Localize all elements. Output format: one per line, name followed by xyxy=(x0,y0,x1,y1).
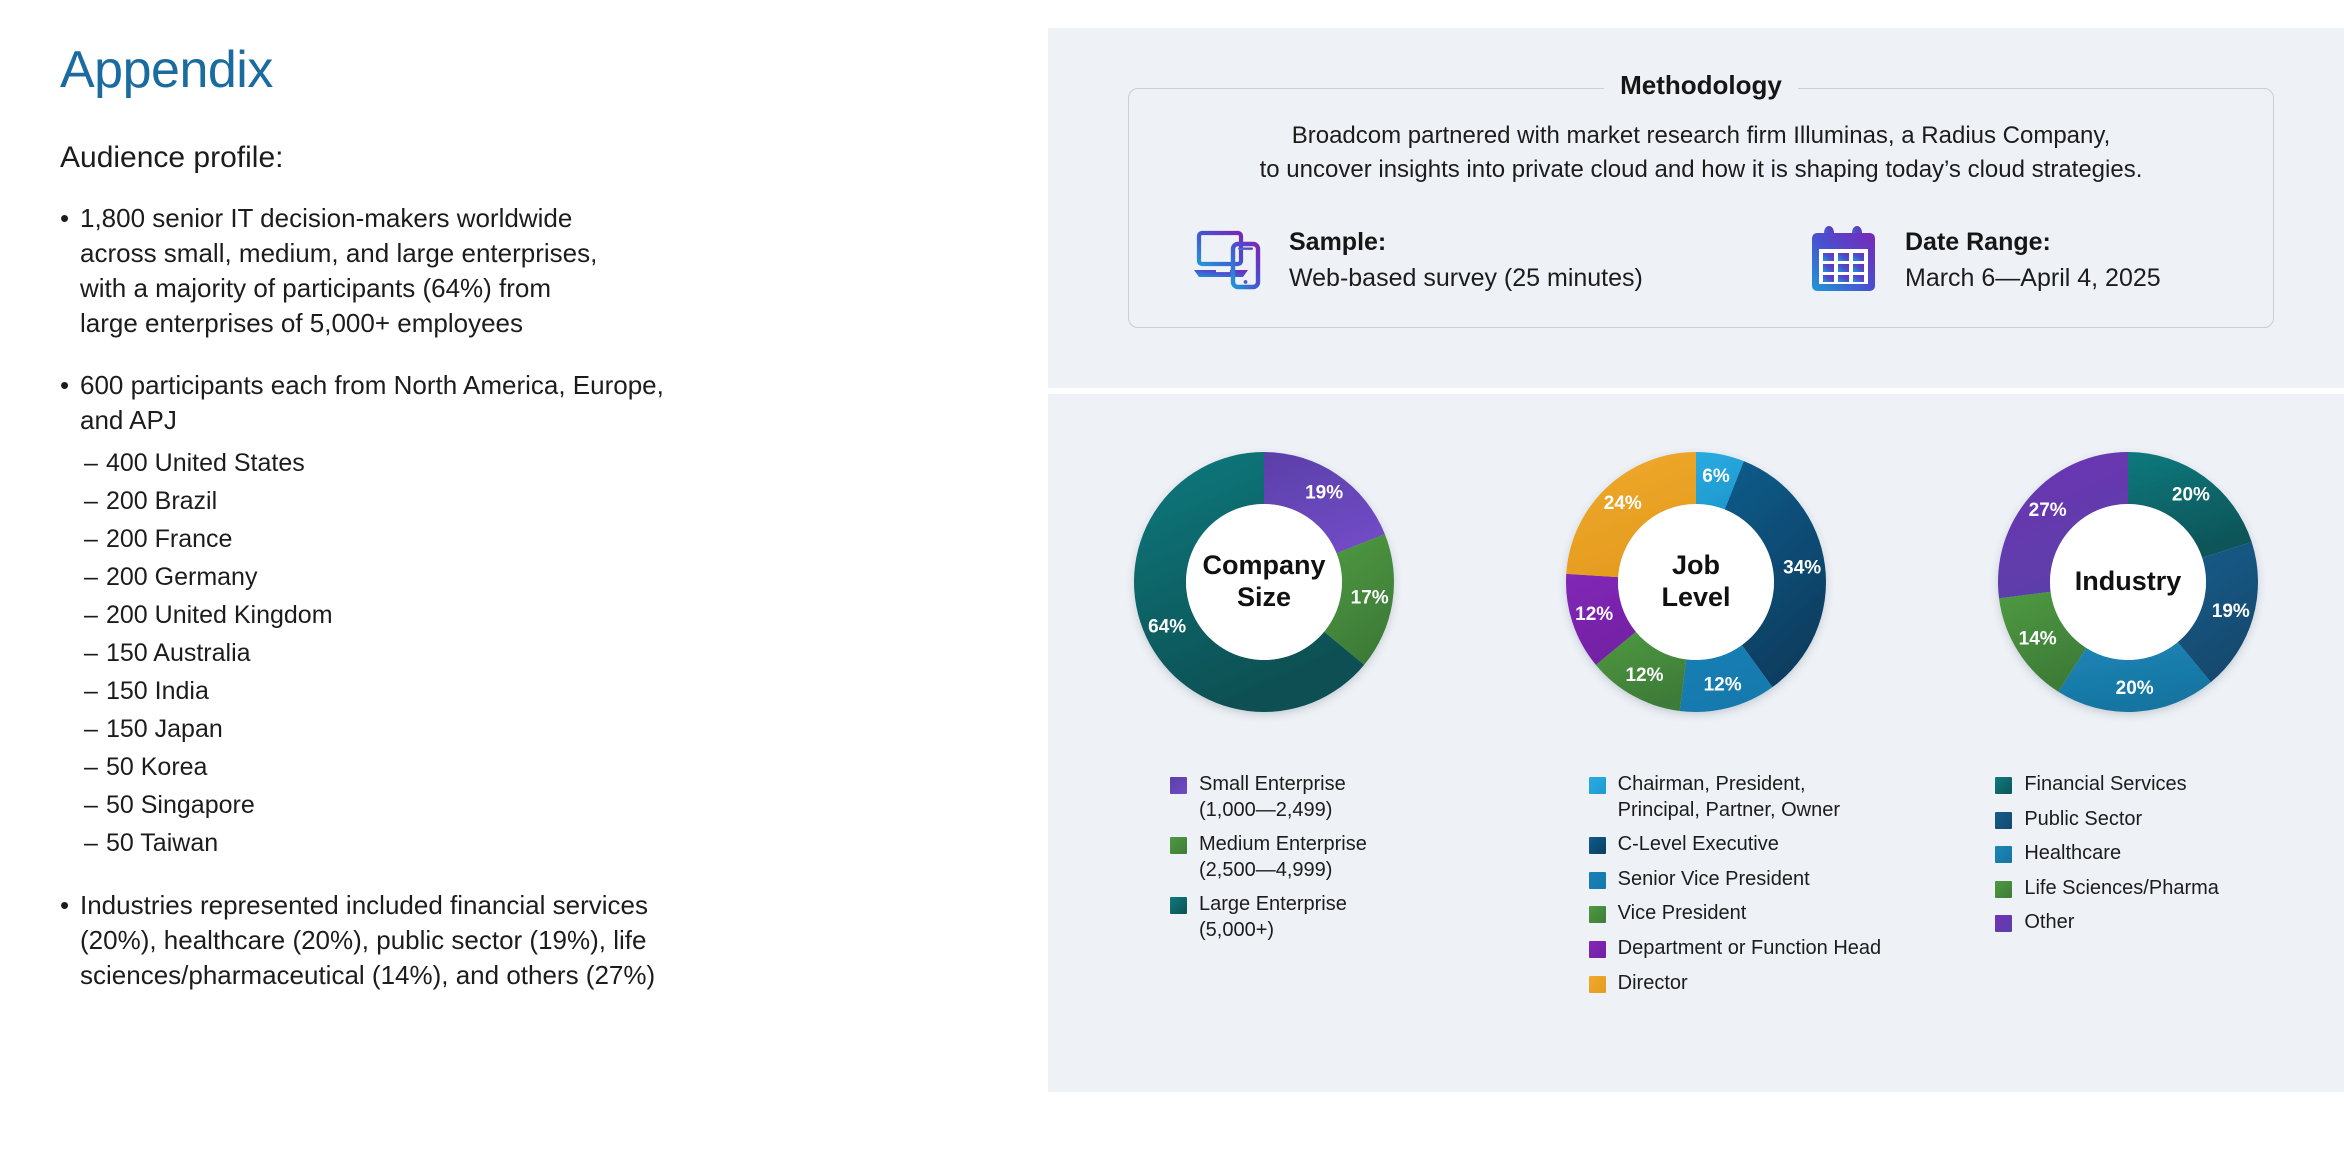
dash-icon: – xyxy=(84,601,106,629)
legend-item[interactable]: Healthcare xyxy=(1995,841,2344,867)
donut-slice-label: 27% xyxy=(2029,500,2067,521)
bullet-block: •600 participants each from North Americ… xyxy=(60,368,1008,862)
legend-item[interactable]: Financial Services xyxy=(1995,772,2344,798)
bullet-item: •Industries represented included financi… xyxy=(60,888,1008,993)
legend-item[interactable]: Vice President xyxy=(1589,901,1938,927)
country-list-item: –200 France xyxy=(84,520,1008,558)
methodology-item-label: Date Range: xyxy=(1905,228,2161,257)
dash-icon: – xyxy=(84,639,106,667)
legend-label: Public Sector xyxy=(2024,807,2142,833)
legend-color-swatch xyxy=(1589,906,1606,923)
country-list-item-label: 150 Japan xyxy=(106,715,1008,743)
dash-icon: – xyxy=(84,487,106,515)
country-list-item: –200 United Kingdom xyxy=(84,596,1008,634)
methodology-panel: Methodology Broadcom partnered with mark… xyxy=(1048,28,2344,388)
bullet-item: •600 participants each from North Americ… xyxy=(60,368,1008,438)
legend-color-swatch xyxy=(1170,837,1187,854)
country-list-item: –400 United States xyxy=(84,444,1008,482)
page-title: Appendix xyxy=(60,42,1008,99)
legend-item[interactable]: Senior Vice President xyxy=(1589,867,1938,893)
country-list-item-label: 50 Singapore xyxy=(106,791,1008,819)
country-list-item-label: 200 Germany xyxy=(106,563,1008,591)
methodology-item-text: Date Range:March 6—April 4, 2025 xyxy=(1905,228,2161,293)
country-list-item: –50 Singapore xyxy=(84,786,1008,824)
legend-label: Healthcare xyxy=(2024,841,2121,867)
chart-legend: Chairman, President, Principal, Partner,… xyxy=(1519,772,1938,1005)
bullet-item: •1,800 senior IT decision-makers worldwi… xyxy=(60,201,1008,341)
legend-item[interactable]: Director xyxy=(1589,971,1938,997)
bullet-dot-icon: • xyxy=(60,888,80,923)
country-list-item: –50 Korea xyxy=(84,748,1008,786)
legend-label: Small Enterprise (1,000—2,499) xyxy=(1199,772,1346,823)
country-list-item: –150 Japan xyxy=(84,710,1008,748)
country-list-item: –150 India xyxy=(84,672,1008,710)
donut-chart-graphic: 6%34%12%12%12%24%Job Level xyxy=(1526,412,1866,752)
dash-icon: – xyxy=(84,677,106,705)
country-list-item-label: 150 India xyxy=(106,677,1008,705)
country-list-item-label: 150 Australia xyxy=(106,639,1008,667)
donut-slice-label: 19% xyxy=(2212,601,2250,622)
donut-slice-label: 34% xyxy=(1783,558,1821,579)
bullet-block: •1,800 senior IT decision-makers worldwi… xyxy=(60,201,1008,341)
methodology-meta-items: Sample:Web-based survey (25 minutes) Dat… xyxy=(1189,221,2213,299)
legend-label: Department or Function Head xyxy=(1618,936,1881,962)
donut-chart: 6%34%12%12%12%24%Job Level xyxy=(1480,412,1912,752)
methodology-item-text: Sample:Web-based survey (25 minutes) xyxy=(1289,228,1643,293)
legend-color-swatch xyxy=(1995,812,2012,829)
legend-color-swatch xyxy=(1170,777,1187,794)
legend-label: Chairman, President, Principal, Partner,… xyxy=(1618,772,1840,823)
legend-color-swatch xyxy=(1995,777,2012,794)
legend-item[interactable]: Chairman, President, Principal, Partner,… xyxy=(1589,772,1938,823)
bullet-dot-icon: • xyxy=(60,368,80,403)
donut-slice-label: 14% xyxy=(2019,628,2057,649)
legend-color-swatch xyxy=(1589,976,1606,993)
legend-item[interactable]: Small Enterprise (1,000—2,499) xyxy=(1170,772,1519,823)
legend-color-swatch xyxy=(1589,941,1606,958)
donut-chart: 19%17%64%Company Size xyxy=(1048,412,1480,752)
bullet-dot-icon: • xyxy=(60,201,80,236)
legend-item[interactable]: Public Sector xyxy=(1995,807,2344,833)
appendix-right-column: Methodology Broadcom partnered with mark… xyxy=(1048,0,2344,1160)
country-list-item: –200 Germany xyxy=(84,558,1008,596)
legend-color-swatch xyxy=(1995,915,2012,932)
bullet-text: 1,800 senior IT decision-makers worldwid… xyxy=(80,201,1008,341)
bullet-block: •Industries represented included financi… xyxy=(60,888,1008,993)
legend-color-swatch xyxy=(1995,846,2012,863)
country-list-item-label: 50 Taiwan xyxy=(106,829,1008,857)
legend-color-swatch xyxy=(1170,897,1187,914)
legend-label: C-Level Executive xyxy=(1618,832,1779,858)
legend-label: Senior Vice President xyxy=(1618,867,1810,893)
legend-item[interactable]: Department or Function Head xyxy=(1589,936,1938,962)
legend-color-swatch xyxy=(1995,881,2012,898)
dash-icon: – xyxy=(84,715,106,743)
country-list-item: –200 Brazil xyxy=(84,482,1008,520)
legend-color-swatch xyxy=(1589,872,1606,889)
country-list-item-label: 400 United States xyxy=(106,449,1008,477)
audience-profile-heading: Audience profile: xyxy=(60,141,1008,175)
calendar-icon xyxy=(1805,221,1883,299)
legend-item[interactable]: Medium Enterprise (2,500—4,999) xyxy=(1170,832,1519,883)
legend-label: Vice President xyxy=(1618,901,1747,927)
country-list-item-label: 200 Brazil xyxy=(106,487,1008,515)
dash-icon: – xyxy=(84,791,106,819)
donut-slice-label: 6% xyxy=(1702,466,1730,487)
methodology-item-label: Sample: xyxy=(1289,228,1643,257)
dash-icon: – xyxy=(84,525,106,553)
donut-chart-graphic: 19%17%64%Company Size xyxy=(1094,412,1434,752)
legend-label: Medium Enterprise (2,500—4,999) xyxy=(1199,832,1367,883)
dash-icon: – xyxy=(84,449,106,477)
methodology-title: Methodology xyxy=(1604,70,1798,101)
methodology-box: Methodology Broadcom partnered with mark… xyxy=(1128,88,2274,328)
donut-slice-label: 17% xyxy=(1351,588,1389,609)
charts-panel: 19%17%64%Company Size 6%34%12%12%12%24%J… xyxy=(1048,394,2344,1092)
country-list-item: –150 Australia xyxy=(84,634,1008,672)
bullet-text: 600 participants each from North America… xyxy=(80,368,1008,438)
audience-bullet-list: •1,800 senior IT decision-makers worldwi… xyxy=(60,201,1008,993)
donut-slice-label: 12% xyxy=(1575,604,1613,625)
legend-color-swatch xyxy=(1589,777,1606,794)
legend-label: Director xyxy=(1618,971,1688,997)
dash-icon: – xyxy=(84,563,106,591)
donut-slice-label: 64% xyxy=(1148,617,1186,638)
bullet-text: Industries represented included financia… xyxy=(80,888,1008,993)
country-list-item-label: 200 United Kingdom xyxy=(106,601,1008,629)
appendix-left-column: Appendix Audience profile: •1,800 senior… xyxy=(0,0,1048,1160)
methodology-item: Sample:Web-based survey (25 minutes) xyxy=(1189,221,1749,299)
chart-legend: Small Enterprise (1,000—2,499)Medium Ent… xyxy=(1048,772,1519,1005)
donut-slice-label: 24% xyxy=(1604,493,1642,514)
legend-label: Financial Services xyxy=(2024,772,2186,798)
dash-icon: – xyxy=(84,829,106,857)
methodology-item-value: March 6—April 4, 2025 xyxy=(1905,264,2161,293)
legend-label: Other xyxy=(2024,910,2074,936)
donut-slice-label: 20% xyxy=(2172,484,2210,505)
legend-label: Large Enterprise (5,000+) xyxy=(1199,892,1347,943)
chart-legend-row: Small Enterprise (1,000—2,499)Medium Ent… xyxy=(1048,772,2344,1005)
methodology-item-value: Web-based survey (25 minutes) xyxy=(1289,264,1643,293)
dash-icon: – xyxy=(84,753,106,781)
donut-slice-label: 12% xyxy=(1625,665,1663,686)
donut-chart: 20%19%20%14%27%Industry xyxy=(1912,412,2344,752)
country-list-item-label: 200 France xyxy=(106,525,1008,553)
methodology-item: Date Range:March 6—April 4, 2025 xyxy=(1805,221,2161,299)
country-sub-list: –400 United States–200 Brazil–200 France… xyxy=(84,444,1008,862)
donut-chart-graphic: 20%19%20%14%27%Industry xyxy=(1958,412,2298,752)
donut-slice-label: 20% xyxy=(2116,678,2154,699)
legend-item[interactable]: Other xyxy=(1995,910,2344,936)
legend-item[interactable]: C-Level Executive xyxy=(1589,832,1938,858)
devices-icon xyxy=(1189,221,1267,299)
legend-color-swatch xyxy=(1589,837,1606,854)
legend-item[interactable]: Large Enterprise (5,000+) xyxy=(1170,892,1519,943)
donut-slice-label: 19% xyxy=(1305,483,1343,504)
donut-chart-row: 19%17%64%Company Size 6%34%12%12%12%24%J… xyxy=(1048,412,2344,752)
legend-item[interactable]: Life Sciences/Pharma xyxy=(1995,876,2344,902)
chart-legend: Financial ServicesPublic SectorHealthcar… xyxy=(1937,772,2344,1005)
country-list-item-label: 50 Korea xyxy=(106,753,1008,781)
legend-label: Life Sciences/Pharma xyxy=(2024,876,2219,902)
methodology-description: Broadcom partnered with market research … xyxy=(1129,119,2273,187)
country-list-item: –50 Taiwan xyxy=(84,824,1008,862)
donut-slice-label: 12% xyxy=(1704,675,1742,696)
